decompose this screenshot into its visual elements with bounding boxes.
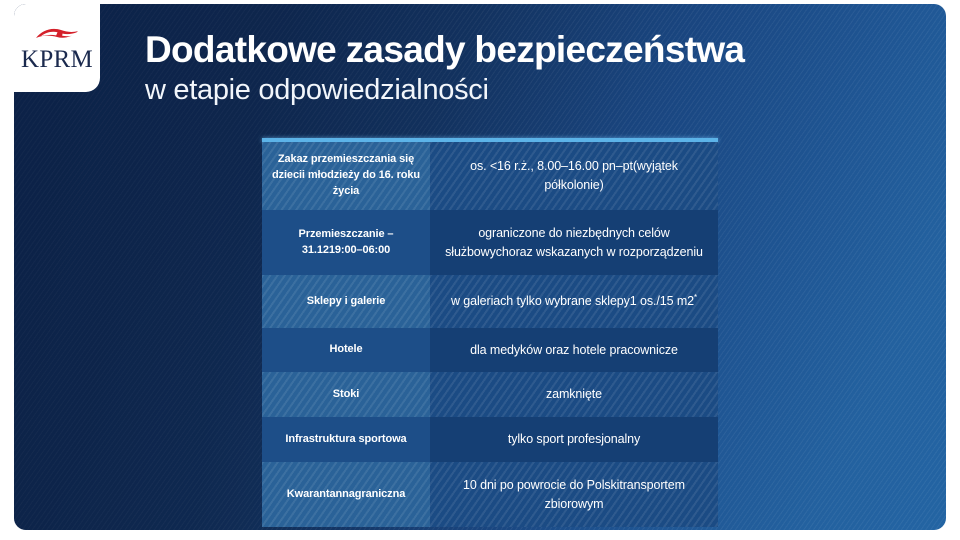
rule-value-cell: dla medyków oraz hotele pracownicze: [430, 328, 718, 372]
rule-label-line: Kwarantanna: [287, 488, 355, 500]
table-row: Kwarantannagraniczna10 dni po powrocie d…: [262, 462, 718, 527]
rule-value-line: dla medyków oraz hotele pracownicze: [470, 343, 678, 357]
rule-label-line: 19:00–06:00: [329, 244, 390, 256]
rule-value-line: os. <16 r.ż., 8.00–16.00 pn–pt: [470, 159, 633, 173]
page-subtitle: w etapie odpowiedzialności: [145, 75, 744, 107]
table-row: Hoteledla medyków oraz hotele pracownicz…: [262, 328, 718, 372]
rule-value-text: 1 os./15 m2: [630, 294, 694, 308]
rule-label-line: Sklepy i galerie: [307, 295, 386, 307]
table-row: Stokizamknięte: [262, 372, 718, 417]
slide-card: KPRM Dodatkowe zasady bezpieczeństwa w e…: [14, 4, 946, 530]
rules-table: Zakaz przemieszczania się dziecii młodzi…: [262, 138, 718, 527]
rule-value-text: oraz wskazanych w rozporządzeniu: [509, 245, 703, 259]
rule-value-line: 10 dni po powrocie do Polski: [463, 478, 619, 492]
rule-value-cell: os. <16 r.ż., 8.00–16.00 pn–pt(wyjątek p…: [430, 142, 718, 210]
kprm-logo: KPRM: [14, 4, 100, 92]
rule-label-line: Hotele: [329, 343, 362, 355]
rule-label-cell: Infrastruktura sportowa: [262, 417, 430, 462]
table-row: Sklepy i galeriew galeriach tylko wybran…: [262, 275, 718, 328]
rule-label-line: graniczna: [355, 488, 405, 500]
page-title: Dodatkowe zasady bezpieczeństwa: [145, 30, 744, 69]
title-block: Dodatkowe zasady bezpieczeństwa w etapie…: [145, 30, 744, 107]
rules-rows-container: Zakaz przemieszczania się dziecii młodzi…: [262, 142, 718, 527]
rule-label-cell: Sklepy i galerie: [262, 275, 430, 328]
table-row: Przemieszczanie – 31.1219:00–06:00ograni…: [262, 210, 718, 275]
rule-value-line: 1 os./15 m2*: [630, 294, 697, 308]
rule-value-line: w galeriach tylko wybrane sklepy: [451, 294, 630, 308]
rule-value-line: tylko sport profesjonalny: [508, 432, 640, 446]
rule-label-line: Infrastruktura sportowa: [285, 433, 406, 445]
rule-label-cell: Przemieszczanie – 31.1219:00–06:00: [262, 210, 430, 275]
table-row: Infrastruktura sportowatylko sport profe…: [262, 417, 718, 462]
rule-label-line: i młodzieży do 16. roku życia: [302, 169, 420, 197]
rule-value-cell: tylko sport profesjonalny: [430, 417, 718, 462]
rule-value-line: zamknięte: [546, 387, 602, 401]
footnote-marker: *: [694, 293, 697, 302]
rule-value-cell: 10 dni po powrocie do Polskitransportem …: [430, 462, 718, 527]
polish-flag-icon: [32, 24, 82, 46]
rule-label-cell: Stoki: [262, 372, 430, 417]
rule-label-cell: Kwarantannagraniczna: [262, 462, 430, 527]
rule-label-cell: Zakaz przemieszczania się dziecii młodzi…: [262, 142, 430, 210]
rule-label-cell: Hotele: [262, 328, 430, 372]
table-row: Zakaz przemieszczania się dziecii młodzi…: [262, 142, 718, 210]
logo-wordmark: KPRM: [21, 47, 93, 72]
rule-value-cell: ograniczone do niezbędnych celów służbow…: [430, 210, 718, 275]
rule-value-cell: w galeriach tylko wybrane sklepy1 os./15…: [430, 275, 718, 328]
rule-label-line: Stoki: [333, 388, 359, 400]
rule-value-cell: zamknięte: [430, 372, 718, 417]
rule-value-line: oraz wskazanych w rozporządzeniu: [509, 245, 703, 259]
